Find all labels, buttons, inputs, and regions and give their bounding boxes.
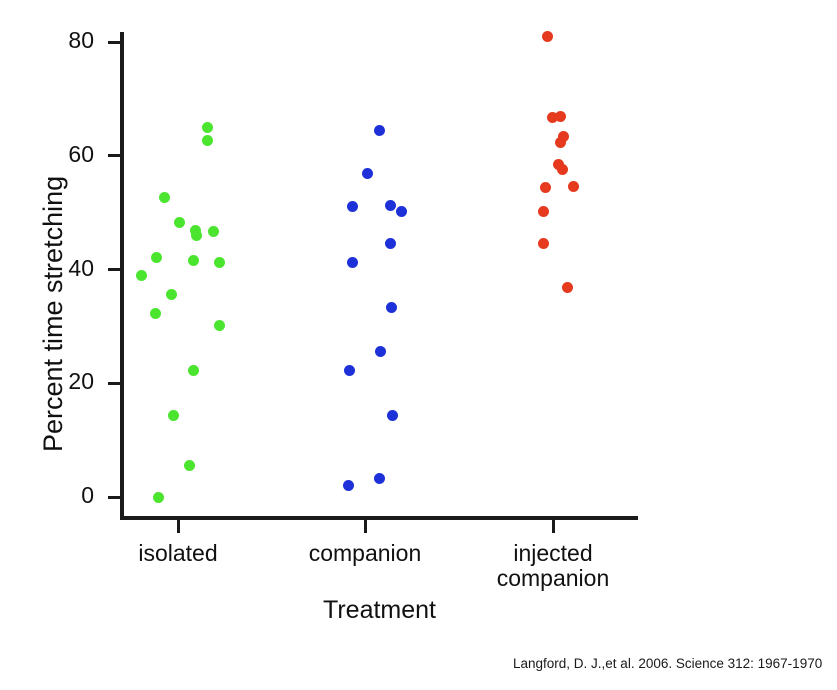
data-point	[347, 257, 358, 268]
y-axis-tick	[108, 382, 122, 385]
data-point	[555, 137, 566, 148]
data-point	[174, 217, 185, 228]
data-point	[202, 122, 213, 133]
data-point	[540, 182, 551, 193]
data-point	[214, 257, 225, 268]
y-axis-tick	[108, 41, 122, 44]
data-point	[385, 238, 396, 249]
data-point	[202, 135, 213, 146]
x-axis-tick-label: injected companion	[453, 541, 653, 591]
data-point	[166, 289, 177, 300]
data-point	[343, 480, 354, 491]
y-axis-tick-label: 0	[12, 484, 94, 507]
y-axis-tick	[108, 496, 122, 499]
data-point	[150, 308, 161, 319]
data-point	[396, 206, 407, 217]
data-point	[214, 320, 225, 331]
data-point	[168, 410, 179, 421]
data-point	[568, 181, 579, 192]
data-point	[188, 255, 199, 266]
data-point	[136, 270, 147, 281]
citation-text: Langford, D. J.,et al. 2006. Science 312…	[513, 656, 822, 671]
y-axis-title: Percent time stretching	[38, 176, 69, 452]
x-axis-title: Treatment	[323, 596, 436, 625]
x-axis-tick-label: isolated	[78, 541, 278, 566]
data-point	[557, 164, 568, 175]
data-point	[542, 31, 553, 42]
data-point	[386, 302, 397, 313]
x-axis-tick-label: companion	[265, 541, 465, 566]
x-axis-tick	[177, 520, 180, 533]
data-point	[362, 168, 373, 179]
data-point	[555, 111, 566, 122]
data-point	[538, 238, 549, 249]
data-point	[184, 460, 195, 471]
data-point	[387, 410, 398, 421]
data-point	[151, 252, 162, 263]
y-axis-tick-label: 80	[12, 29, 94, 52]
data-point	[385, 200, 396, 211]
data-point	[562, 282, 573, 293]
y-axis-tick	[108, 154, 122, 157]
y-axis-tick-label: 60	[12, 143, 94, 166]
data-point	[153, 492, 164, 503]
plot-area: 020406080isolatedcompanioninjected compa…	[0, 0, 837, 690]
data-point	[191, 230, 202, 241]
data-point	[208, 226, 219, 237]
x-axis-tick	[364, 520, 367, 533]
data-point	[375, 346, 386, 357]
scatter-plot-figure: 020406080isolatedcompanioninjected compa…	[0, 0, 837, 690]
data-point	[347, 201, 358, 212]
data-point	[188, 365, 199, 376]
data-point	[374, 125, 385, 136]
data-point	[538, 206, 549, 217]
data-point	[159, 192, 170, 203]
data-point	[374, 473, 385, 484]
y-axis-tick	[108, 268, 122, 271]
data-point	[344, 365, 355, 376]
x-axis-tick	[552, 520, 555, 533]
